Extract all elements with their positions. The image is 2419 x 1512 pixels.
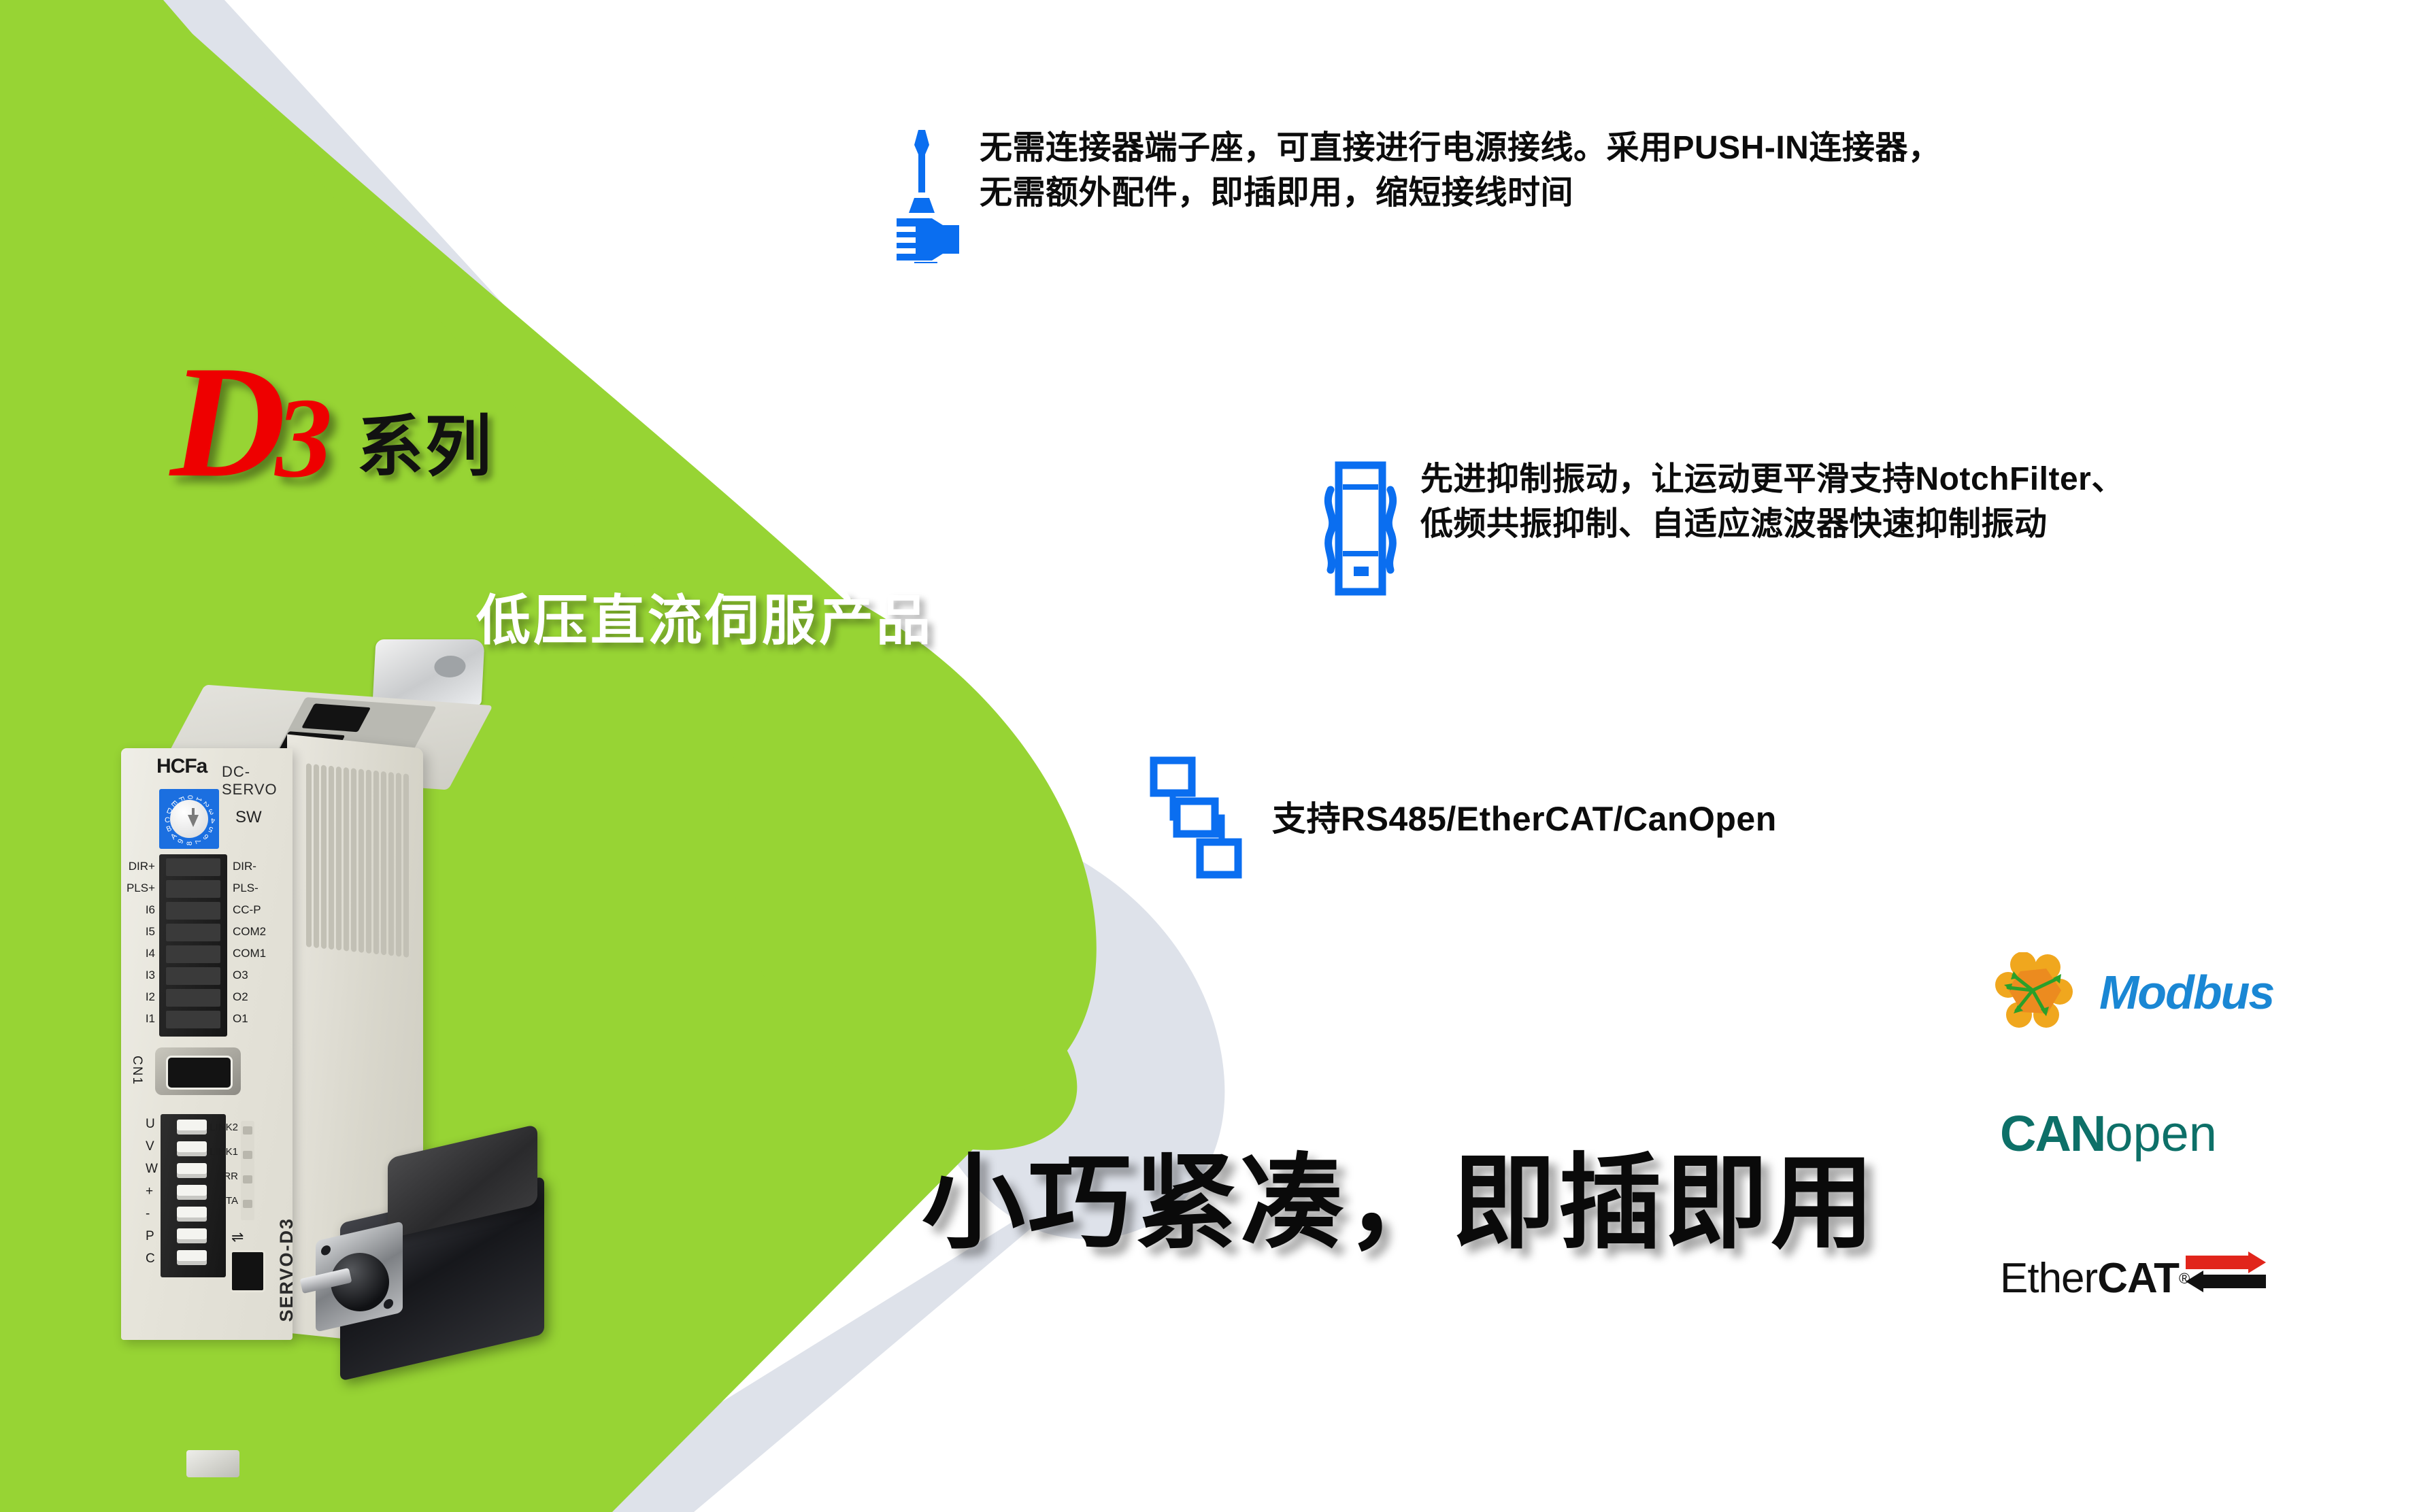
servo-model-label: SERVO-D3: [276, 1217, 297, 1322]
power-terminal-label: +: [146, 1184, 153, 1199]
vent-slot: [381, 771, 386, 956]
usb-port: [230, 1250, 265, 1292]
feature-text-vibration: 先进抑制振动，让运动更平滑支持NotchFilter、 低频共振抑制、自适应滤波…: [1420, 457, 2124, 547]
mounting-bracket: [372, 639, 484, 706]
power-terminal-clip: [177, 1228, 207, 1243]
vent-slot: [403, 773, 409, 958]
vent-slot: [344, 767, 349, 952]
terminal-label-right: COM2: [233, 925, 266, 939]
status-led-strip: [241, 1121, 254, 1220]
feature-line: 无需额外配件，即插即用，缩短接线时间: [980, 171, 1941, 216]
brand-line: D 3 系列: [170, 354, 850, 492]
main-headline: 小巧紧凑，即插即用: [922, 1119, 1877, 1269]
cn1-label: CN1: [129, 1056, 144, 1086]
vent-slot: [366, 769, 371, 954]
status-led-label: STA: [201, 1195, 238, 1207]
rotary-switch: 0123456789ABCDEF: [159, 789, 219, 849]
terminal-slot: [166, 902, 220, 920]
status-led: [243, 1151, 252, 1159]
feature-item-protocols: 支持RS485/EtherCAT/CanOpen: [1150, 756, 1777, 882]
switch-digit: C: [165, 816, 170, 824]
vent-slot: [358, 769, 364, 953]
switch-digit: 4: [211, 816, 215, 824]
terminal-label-right: PLS-: [233, 881, 258, 895]
status-led-label: LINK1: [201, 1146, 238, 1158]
usb-icon: ⇌: [231, 1228, 244, 1246]
feature-text-protocols: 支持RS485/EtherCAT/CanOpen: [1272, 796, 1777, 843]
switch-digit: 5: [207, 824, 214, 833]
terminal-label-right: O2: [233, 990, 248, 1004]
drive-front-face: HCFa DC-SERVO 0123456789ABCDEF SW DIR+PL…: [121, 748, 293, 1340]
power-terminal-labels: UVW+-PC: [131, 1113, 154, 1280]
power-terminal-clip: [177, 1250, 207, 1265]
terminal-label-left: I2: [122, 990, 155, 1004]
status-led: [243, 1200, 252, 1208]
terminal-slot: [166, 924, 220, 941]
terminal-label-left: I5: [122, 925, 155, 939]
switch-label: SW: [235, 808, 262, 827]
terminal-slot: [166, 967, 220, 985]
hcfa-logo: HCFa: [156, 755, 207, 778]
dc-servo-label: DC-SERVO: [222, 763, 293, 799]
switch-digit: 3: [207, 807, 214, 816]
terminal-slot: [166, 989, 220, 1007]
switch-digit: 6: [202, 833, 211, 841]
vent-slot: [351, 768, 356, 952]
ethercat-arrow-icon: [2186, 1251, 2267, 1306]
cn1-connector-socket: [166, 1056, 233, 1090]
terminal-label-right: DIR-: [233, 860, 256, 873]
power-terminal-label: V: [146, 1139, 154, 1154]
vent-slot: [336, 767, 341, 951]
vent-slot: [306, 763, 312, 947]
brand-series-label: 系列: [356, 413, 493, 480]
canopen-can-text: CAN: [2000, 1109, 2105, 1159]
terminal-label-right: O1: [233, 1012, 248, 1026]
terminal-slot: [166, 1011, 220, 1028]
ethercat-cat-text: CAT: [2097, 1258, 2179, 1300]
power-terminal-label: C: [146, 1251, 155, 1266]
hand-screwdriver-icon: [884, 127, 959, 267]
status-led: [243, 1126, 252, 1135]
terminal-label-left: I3: [122, 969, 155, 982]
servo-motor: [306, 1129, 592, 1428]
vent-slot: [314, 764, 319, 948]
brand-block: D 3 系列: [170, 354, 850, 492]
terminal-label-left: DIR+: [122, 860, 155, 873]
feature-line: 无需连接器端子座，可直接进行电源接线。采用PUSH-IN连接器，: [980, 126, 1941, 171]
status-led-label: ERR: [201, 1171, 238, 1182]
terminal-label-left: PLS+: [122, 881, 155, 895]
vent-slot: [388, 772, 394, 956]
terminal-label-right: CC-P: [233, 903, 261, 917]
canopen-logo: CAN open: [2000, 1109, 2217, 1159]
ethercat-logo: Ether CAT ®: [2000, 1251, 2267, 1306]
drive-bottom-foot: [186, 1450, 239, 1477]
canopen-open-text: open: [2105, 1109, 2217, 1159]
terminal-label-left: I6: [122, 903, 155, 917]
product-image: HCFa DC-SERVO 0123456789ABCDEF SW DIR+PL…: [102, 639, 782, 1442]
protocol-logos: Modbus CAN open Ether CAT ®: [1993, 952, 2374, 1374]
feature-line: 支持RS485/EtherCAT/CanOpen: [1272, 796, 1777, 843]
feature-text-wiring: 无需连接器端子座，可直接进行电源接线。采用PUSH-IN连接器， 无需额外配件，…: [980, 126, 1941, 216]
terminal-slot: [166, 880, 220, 898]
switch-pointer-arrow: [188, 815, 199, 827]
modbus-hex-icon: [1993, 952, 2095, 1032]
modbus-logo: Modbus: [1993, 952, 2273, 1032]
vent-slot: [373, 771, 379, 955]
vent-slot: [329, 766, 334, 950]
switch-digit: 9: [176, 838, 185, 845]
status-led-label: LINK2: [201, 1122, 238, 1133]
terminal-label-left: I4: [122, 947, 155, 960]
feature-line: 先进抑制振动，让运动更平滑支持NotchFilter、: [1420, 457, 2124, 502]
terminal-label-left: I1: [122, 1012, 155, 1026]
io-terminal-block: [159, 854, 227, 1037]
power-terminal-label: W: [146, 1162, 158, 1177]
brand-number-3: 3: [275, 389, 332, 487]
modbus-wordmark: Modbus: [2099, 969, 2273, 1016]
switch-digit: 8: [186, 841, 194, 845]
vent-slot: [321, 765, 327, 949]
vent-slot: [396, 773, 401, 957]
flange-screw: [384, 1298, 393, 1309]
switch-digit: 0: [186, 795, 194, 799]
ventilation-slots: [306, 763, 408, 978]
terminal-slot: [166, 858, 220, 876]
power-terminal-label: U: [146, 1117, 155, 1132]
terminal-slot: [166, 945, 220, 963]
cn1-connector: [155, 1047, 241, 1095]
power-terminal-clip: [177, 1207, 207, 1222]
feature-line: 低频共振抑制、自适应滤波器快速抑制振动: [1420, 502, 2124, 547]
power-terminal-label: P: [146, 1229, 154, 1244]
rotary-switch-dial: [170, 800, 208, 838]
power-terminal-label: -: [146, 1207, 150, 1222]
vibrating-phone-icon: [1320, 461, 1401, 601]
terminal-label-right: O3: [233, 969, 248, 982]
network-topology-icon: [1150, 756, 1252, 882]
terminal-label-right: COM1: [233, 947, 266, 960]
switch-digit: 7: [194, 838, 203, 845]
feature-item-vibration: 先进抑制振动，让运动更平滑支持NotchFilter、 低频共振抑制、自适应滤波…: [1320, 457, 2124, 601]
rj45-port-1: [301, 703, 371, 732]
status-led: [243, 1175, 252, 1183]
ethercat-ether-text: Ether: [2000, 1258, 2097, 1300]
brand-letter-d: D: [170, 354, 282, 492]
feature-item-wiring: 无需连接器端子座，可直接进行电源接线。采用PUSH-IN连接器， 无需额外配件，…: [884, 126, 1941, 267]
flange-screw: [321, 1245, 331, 1256]
